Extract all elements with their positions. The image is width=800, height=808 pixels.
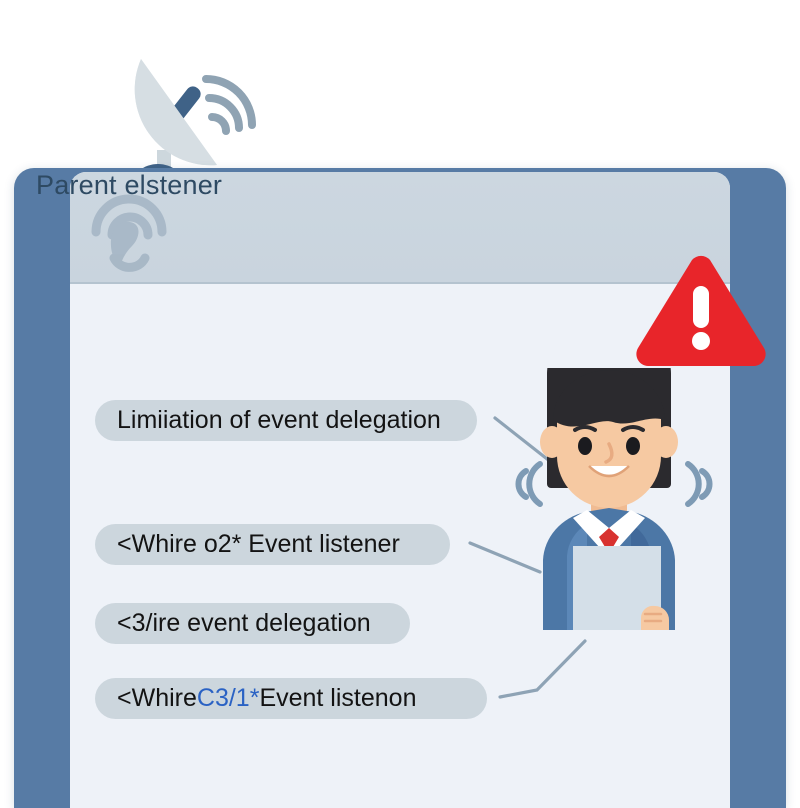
- pill-label: Limiiation of event delegation: [117, 406, 441, 435]
- warning-triangle-icon: [632, 252, 770, 370]
- pill-label-after: Event listenon: [259, 684, 416, 713]
- illustration-scene: Parent elstener Limiiation of event dele…: [0, 0, 800, 800]
- list-item-pill-3[interactable]: <3/ire event delegation: [95, 603, 410, 644]
- connector-line-3: [500, 641, 585, 697]
- page-title: Parent elstener: [36, 170, 222, 201]
- pill-label: <3/ire event delegation: [117, 609, 371, 638]
- pill-label: <Whire o2* Event listener: [117, 530, 400, 559]
- list-item-pill-2[interactable]: <Whire o2* Event listener: [95, 524, 450, 565]
- list-item-pill-4[interactable]: <Whire C3/1* Event listenon: [95, 678, 487, 719]
- person-listener-illustration: [505, 368, 710, 630]
- pill-label-before: <Whire: [117, 684, 197, 713]
- pill-label-highlight: C3/1*: [197, 684, 260, 713]
- list-item-pill-1[interactable]: Limiiation of event delegation: [95, 400, 477, 441]
